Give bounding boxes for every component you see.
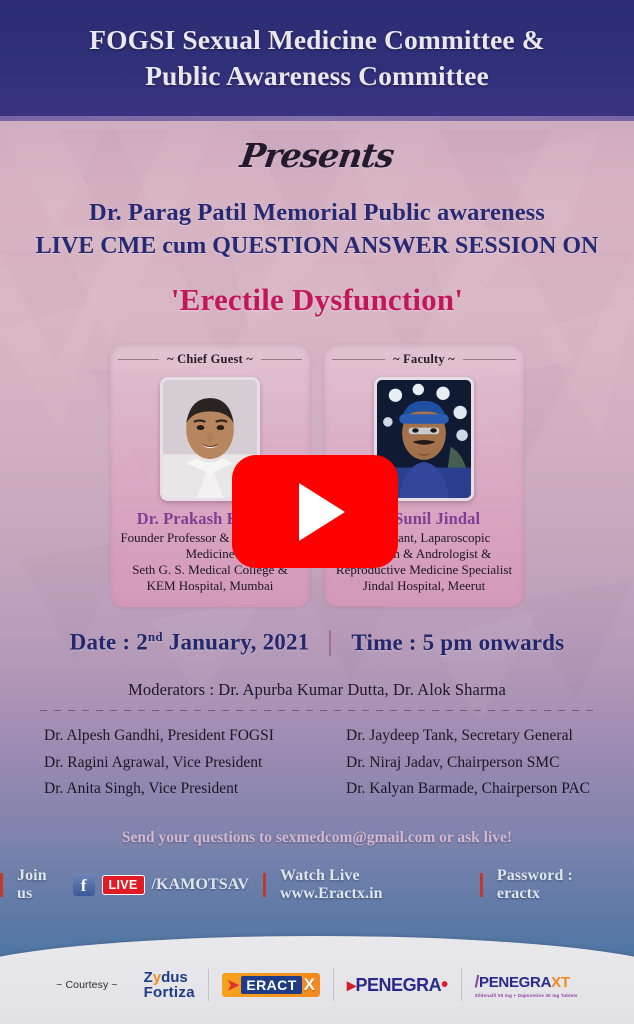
questions-line: Send your questions to sexmedcom@gmail.c… (0, 829, 634, 847)
event-date: Date : 2nd January, 2021 (70, 629, 310, 656)
committee-lists: Dr. Alpesh Gandhi, President FOGSI Dr. R… (44, 723, 590, 803)
live-badge: LIVE (102, 875, 145, 895)
tag-rule-right (261, 359, 302, 360)
play-icon (299, 483, 345, 541)
eractx-x-mark: X (304, 975, 315, 995)
eractx-swoosh-icon: ➤ (227, 976, 240, 994)
event-date-suffix: January, 2021 (163, 630, 310, 655)
committee-column-right: Dr. Jaydeep Tank, Secretary General Dr. … (346, 723, 590, 803)
faculty-role-4: Jindal Hospital, Meerut (332, 578, 516, 594)
tag-rule-left (118, 359, 159, 360)
eractx-wordmark: ➤ ERACT X (222, 973, 320, 997)
chief-guest-role-4: KEM Hospital, Mumbai (118, 578, 302, 594)
moderators-block: Moderators : Dr. Apurba Kumar Dutta, Dr.… (0, 680, 634, 803)
header-title-line2: Public Awareness Committee (89, 58, 544, 94)
list-item: Dr. Niraj Jadav, Chairperson SMC (346, 750, 590, 777)
title-line2: LIVE CME cum QUESTION ANSWER SESSION ON (0, 231, 634, 262)
join-facebook-segment[interactable]: Join us f LIVE /KAMOTSAV (3, 867, 263, 903)
event-poster: FOGSI Sexual Medicine Committee & Public… (0, 0, 634, 1024)
list-item: Dr. Jaydeep Tank, Secretary General (346, 723, 590, 750)
watch-live-segment[interactable]: Watch Live www.Eractx.in (266, 867, 480, 903)
join-row: Join us f LIVE /KAMOTSAV Watch Live www.… (0, 867, 634, 903)
eractx-box-text: ERACT (241, 976, 301, 994)
moderators-line: Moderators : Dr. Apurba Kumar Dutta, Dr.… (0, 680, 634, 700)
penegra-dot-icon: • (441, 974, 448, 996)
zydus-line2: Fortiza (144, 985, 195, 1000)
list-item: Dr. Ragini Agrawal, Vice President (44, 750, 274, 777)
facebook-icon[interactable]: f (73, 874, 95, 896)
join-us-label: Join us (17, 867, 66, 903)
event-time: Time : 5 pm onwards (351, 630, 564, 656)
penegraxt-wordmark: /PENEGRAXT Sildenafil 50 mg + Dapoxetine… (475, 972, 578, 998)
sponsor-logos: ~ Courtesy ~ Zydus Fortiza ➤ ERACT X ▸PE… (0, 962, 634, 1008)
event-date-prefix: Date : 2 (70, 630, 148, 655)
penegraxt-text: PENEGRA (479, 974, 551, 991)
list-item: Dr. Anita Singh, Vice President (44, 776, 274, 803)
title-line1: Dr. Parag Patil Memorial Public awarenes… (0, 197, 634, 229)
faculty-label: ~ Faculty ~ (393, 352, 455, 367)
chief-guest-tag: ~ Chief Guest ~ (118, 352, 302, 367)
penegra-arrow-icon: ▸ (347, 975, 356, 995)
penegraxt-tagline: Sildenafil 50 mg + Dapoxetine 30 mg Tabl… (475, 993, 578, 998)
courtesy-label: ~ Courtesy ~ (56, 979, 117, 991)
list-item: Dr. Kalyan Barmade, Chairperson PAC (346, 776, 590, 803)
title-block: Dr. Parag Patil Memorial Public awarenes… (0, 197, 634, 318)
penegraxt-xt: XT (551, 974, 570, 991)
sponsor-strip: ~ Courtesy ~ Zydus Fortiza ➤ ERACT X ▸PE… (0, 928, 634, 1024)
courtesy-cell: ~ Courtesy ~ (43, 965, 130, 1005)
tag-rule-right (463, 359, 516, 360)
penegra-logo: ▸PENEGRA• (334, 965, 461, 1005)
zydus-fortiza-wordmark: Zydus Fortiza (144, 970, 195, 1000)
password-segment: Password : eractx (483, 867, 634, 903)
penegraxt-logo: /PENEGRAXT Sildenafil 50 mg + Dapoxetine… (462, 965, 591, 1005)
password-label: Password : eractx (497, 867, 620, 903)
event-date-ordinal: nd (148, 629, 163, 644)
tag-rule-left (332, 359, 385, 360)
header-title-line1: FOGSI Sexual Medicine Committee & (89, 24, 544, 55)
header-divider (0, 116, 634, 121)
facebook-handle[interactable]: /KAMOTSAV (152, 876, 250, 894)
chief-guest-label: ~ Chief Guest ~ (167, 352, 253, 367)
event-datetime: Date : 2nd January, 2021 Time : 5 pm onw… (0, 629, 634, 656)
zydus-logo: Zydus Fortiza (131, 965, 208, 1005)
committee-column-left: Dr. Alpesh Gandhi, President FOGSI Dr. R… (44, 723, 274, 803)
datetime-divider (329, 630, 331, 656)
faculty-tag: ~ Faculty ~ (332, 352, 516, 367)
dashed-divider (40, 710, 594, 711)
title-topic: 'Erectile Dysfunction' (0, 282, 634, 318)
video-play-button[interactable] (232, 455, 398, 568)
watch-live-link[interactable]: Watch Live www.Eractx.in (280, 867, 466, 903)
poster-header: FOGSI Sexual Medicine Committee & Public… (0, 0, 634, 116)
list-item: Dr. Alpesh Gandhi, President FOGSI (44, 723, 274, 750)
presents-script: Presents (0, 136, 634, 175)
penegra-wordmark: ▸PENEGRA• (347, 974, 448, 997)
penegra-text: PENEGRA (356, 975, 442, 995)
header-title: FOGSI Sexual Medicine Committee & Public… (89, 22, 544, 94)
eractx-logo: ➤ ERACT X (209, 965, 333, 1005)
